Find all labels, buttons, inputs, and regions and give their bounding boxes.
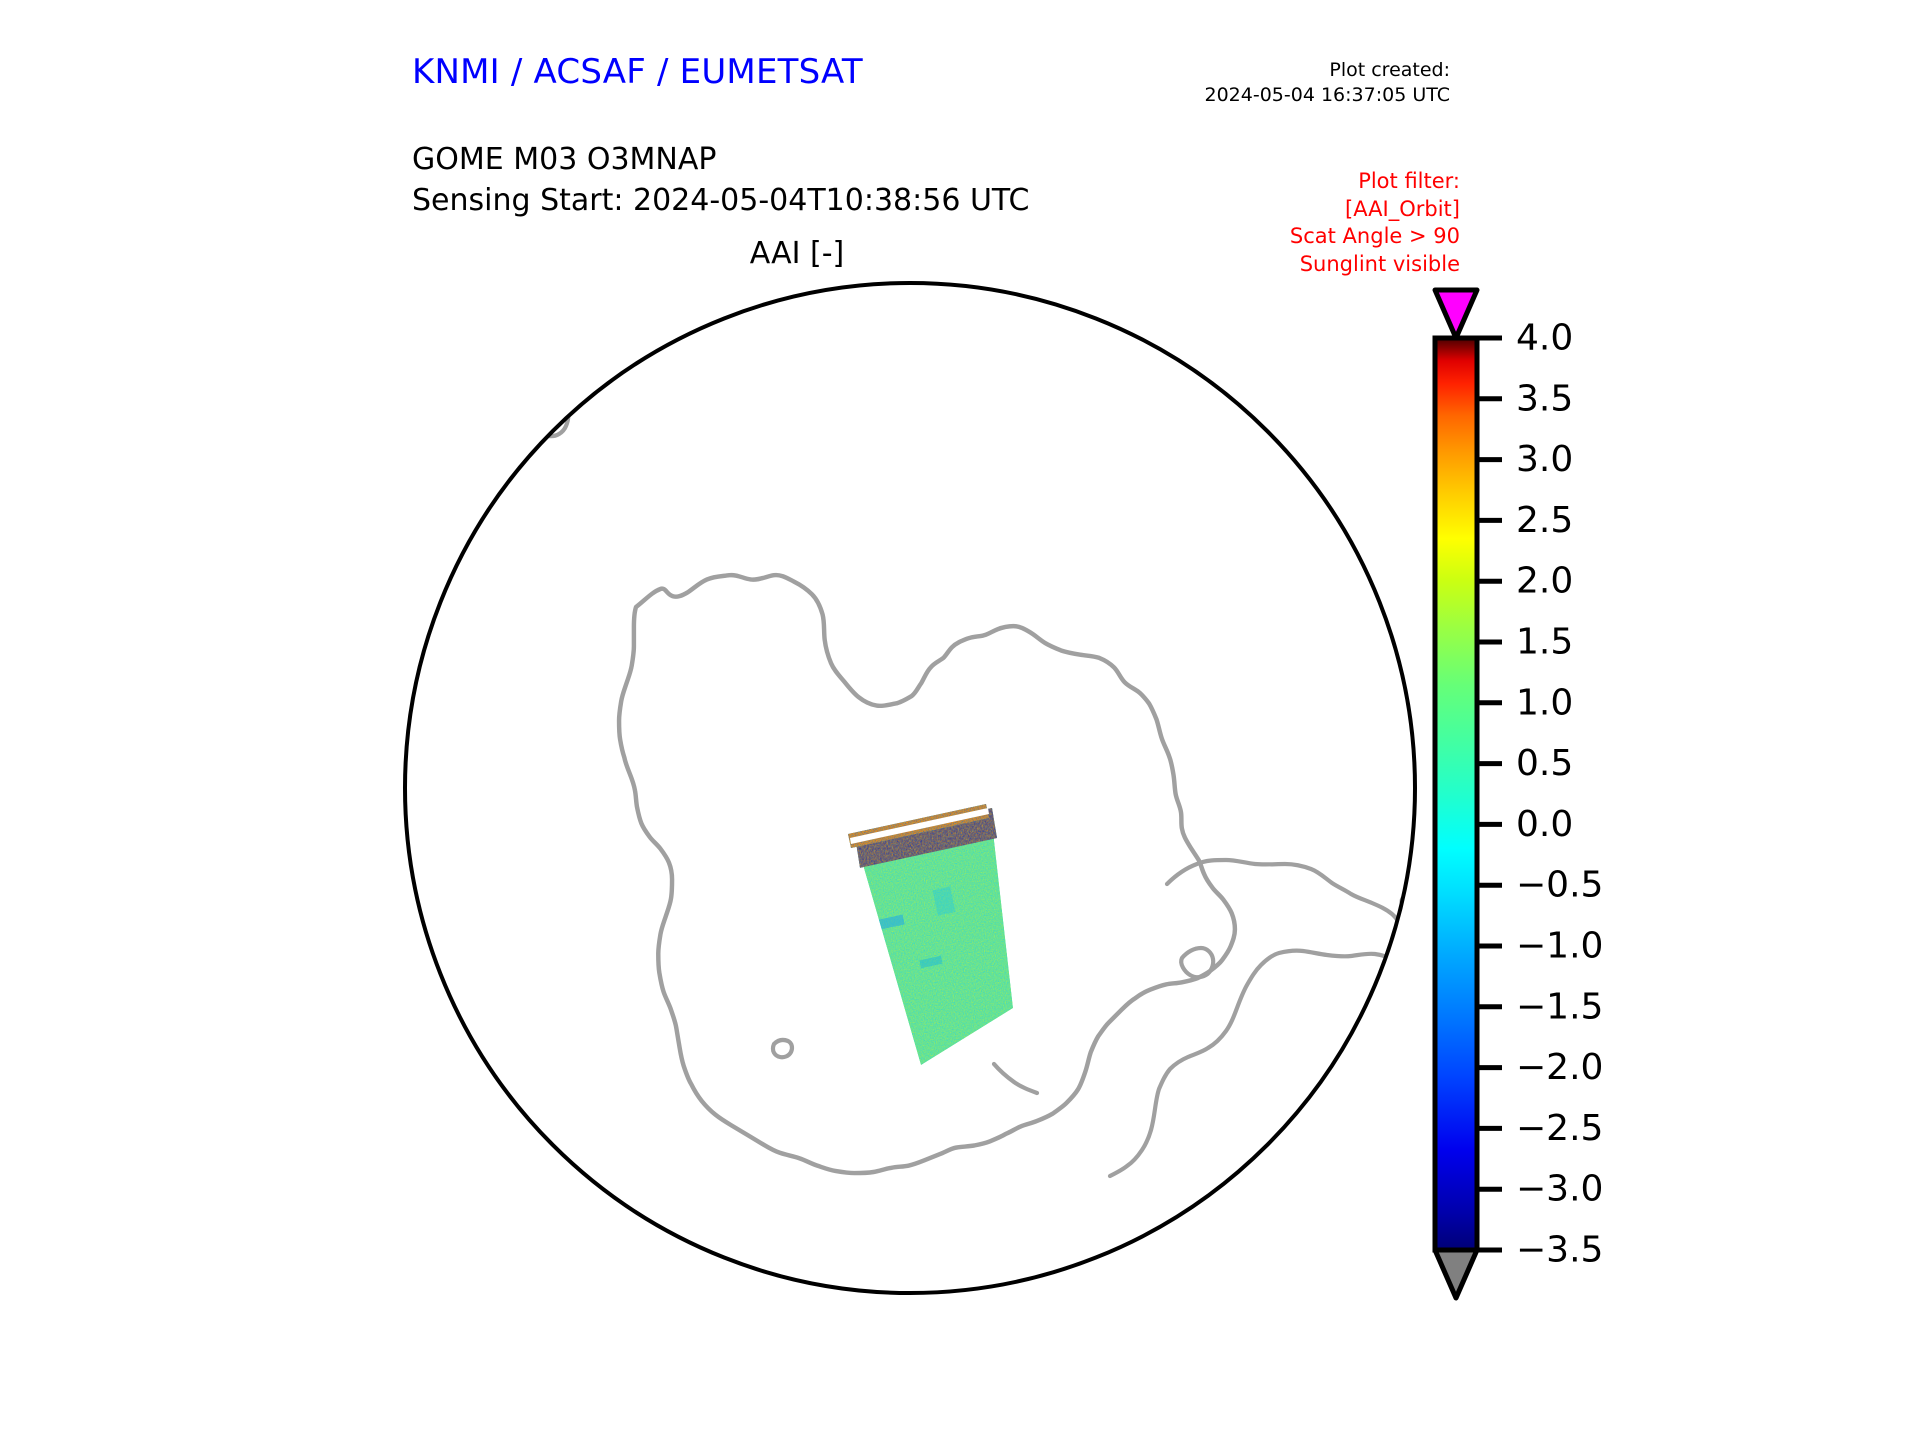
plot-created-value: 2024-05-04 16:37:05 UTC: [1205, 83, 1451, 108]
sensing-start: Sensing Start: 2024-05-04T10:38:56 UTC: [412, 181, 1029, 222]
colorbar-tick-label: −0.5: [1516, 865, 1603, 906]
map-panel: [400, 278, 1420, 1298]
plot-filter-block: Plot filter: [AAI_Orbit] Scat Angle > 90…: [1290, 168, 1460, 279]
plot-created-block: Plot created: 2024-05-04 16:37:05 UTC: [1205, 58, 1451, 108]
page-title: AAI [-]: [412, 236, 1182, 271]
plot-filter-sunglint: Sunglint visible: [1290, 251, 1460, 279]
coastline-new-zealand-south: [1291, 300, 1389, 436]
colorbar-tick-labels: 4.0 3.5 3.0 2.5 2.0 1.5 1.0 0.5 0.0 −0.5…: [1516, 318, 1603, 1271]
colorbar-tick-label: 2.5: [1516, 500, 1573, 541]
colorbar-ticks: [1477, 338, 1502, 1250]
org-title: KNMI / ACSAF / EUMETSAT: [412, 52, 863, 92]
colorbar-gradient: [1435, 338, 1477, 1250]
colorbar-tick-label: 3.0: [1516, 439, 1573, 480]
colorbar-tick-label: 4.0: [1516, 318, 1573, 359]
colorbar-tick-label: −2.5: [1516, 1108, 1603, 1149]
colorbar-panel: 4.0 3.5 3.0 2.5 2.0 1.5 1.0 0.5 0.0 −0.5…: [1428, 280, 1848, 1320]
colorbar-tick-label: −3.0: [1516, 1169, 1603, 1210]
plot-created-label: Plot created:: [1205, 58, 1451, 83]
product-block: GOME M03 O3MNAP Sensing Start: 2024-05-0…: [412, 140, 1029, 222]
coastline-new-zealand-north: [1378, 278, 1420, 331]
polar-map: [400, 278, 1420, 1298]
colorbar: 4.0 3.5 3.0 2.5 2.0 1.5 1.0 0.5 0.0 −0.5…: [1428, 280, 1848, 1320]
colorbar-tick-label: 2.0: [1516, 561, 1573, 602]
colorbar-over-arrow: [1435, 290, 1477, 338]
colorbar-tick-label: −3.5: [1516, 1230, 1603, 1271]
coastline-peninsula: [1353, 1015, 1420, 1046]
plot-filter-label: Plot filter:: [1290, 168, 1460, 196]
colorbar-tick-label: 1.0: [1516, 682, 1573, 723]
colorbar-tick-label: 0.0: [1516, 804, 1573, 845]
colorbar-tick-label: −1.5: [1516, 986, 1603, 1027]
colorbar-tick-label: 0.5: [1516, 743, 1573, 784]
plot-filter-variable: [AAI_Orbit]: [1290, 196, 1460, 224]
colorbar-under-arrow: [1435, 1250, 1477, 1298]
coastline-sliver-upper-left: [400, 363, 511, 408]
colorbar-tick-label: −1.0: [1516, 926, 1603, 967]
product-name: GOME M03 O3MNAP: [412, 140, 1029, 181]
colorbar-tick-label: −2.0: [1516, 1047, 1603, 1088]
plot-filter-scat-angle: Scat Angle > 90: [1290, 223, 1460, 251]
colorbar-tick-label: 1.5: [1516, 622, 1573, 663]
coastline-island-small-nz: [526, 390, 568, 436]
colorbar-tick-label: 3.5: [1516, 378, 1573, 419]
